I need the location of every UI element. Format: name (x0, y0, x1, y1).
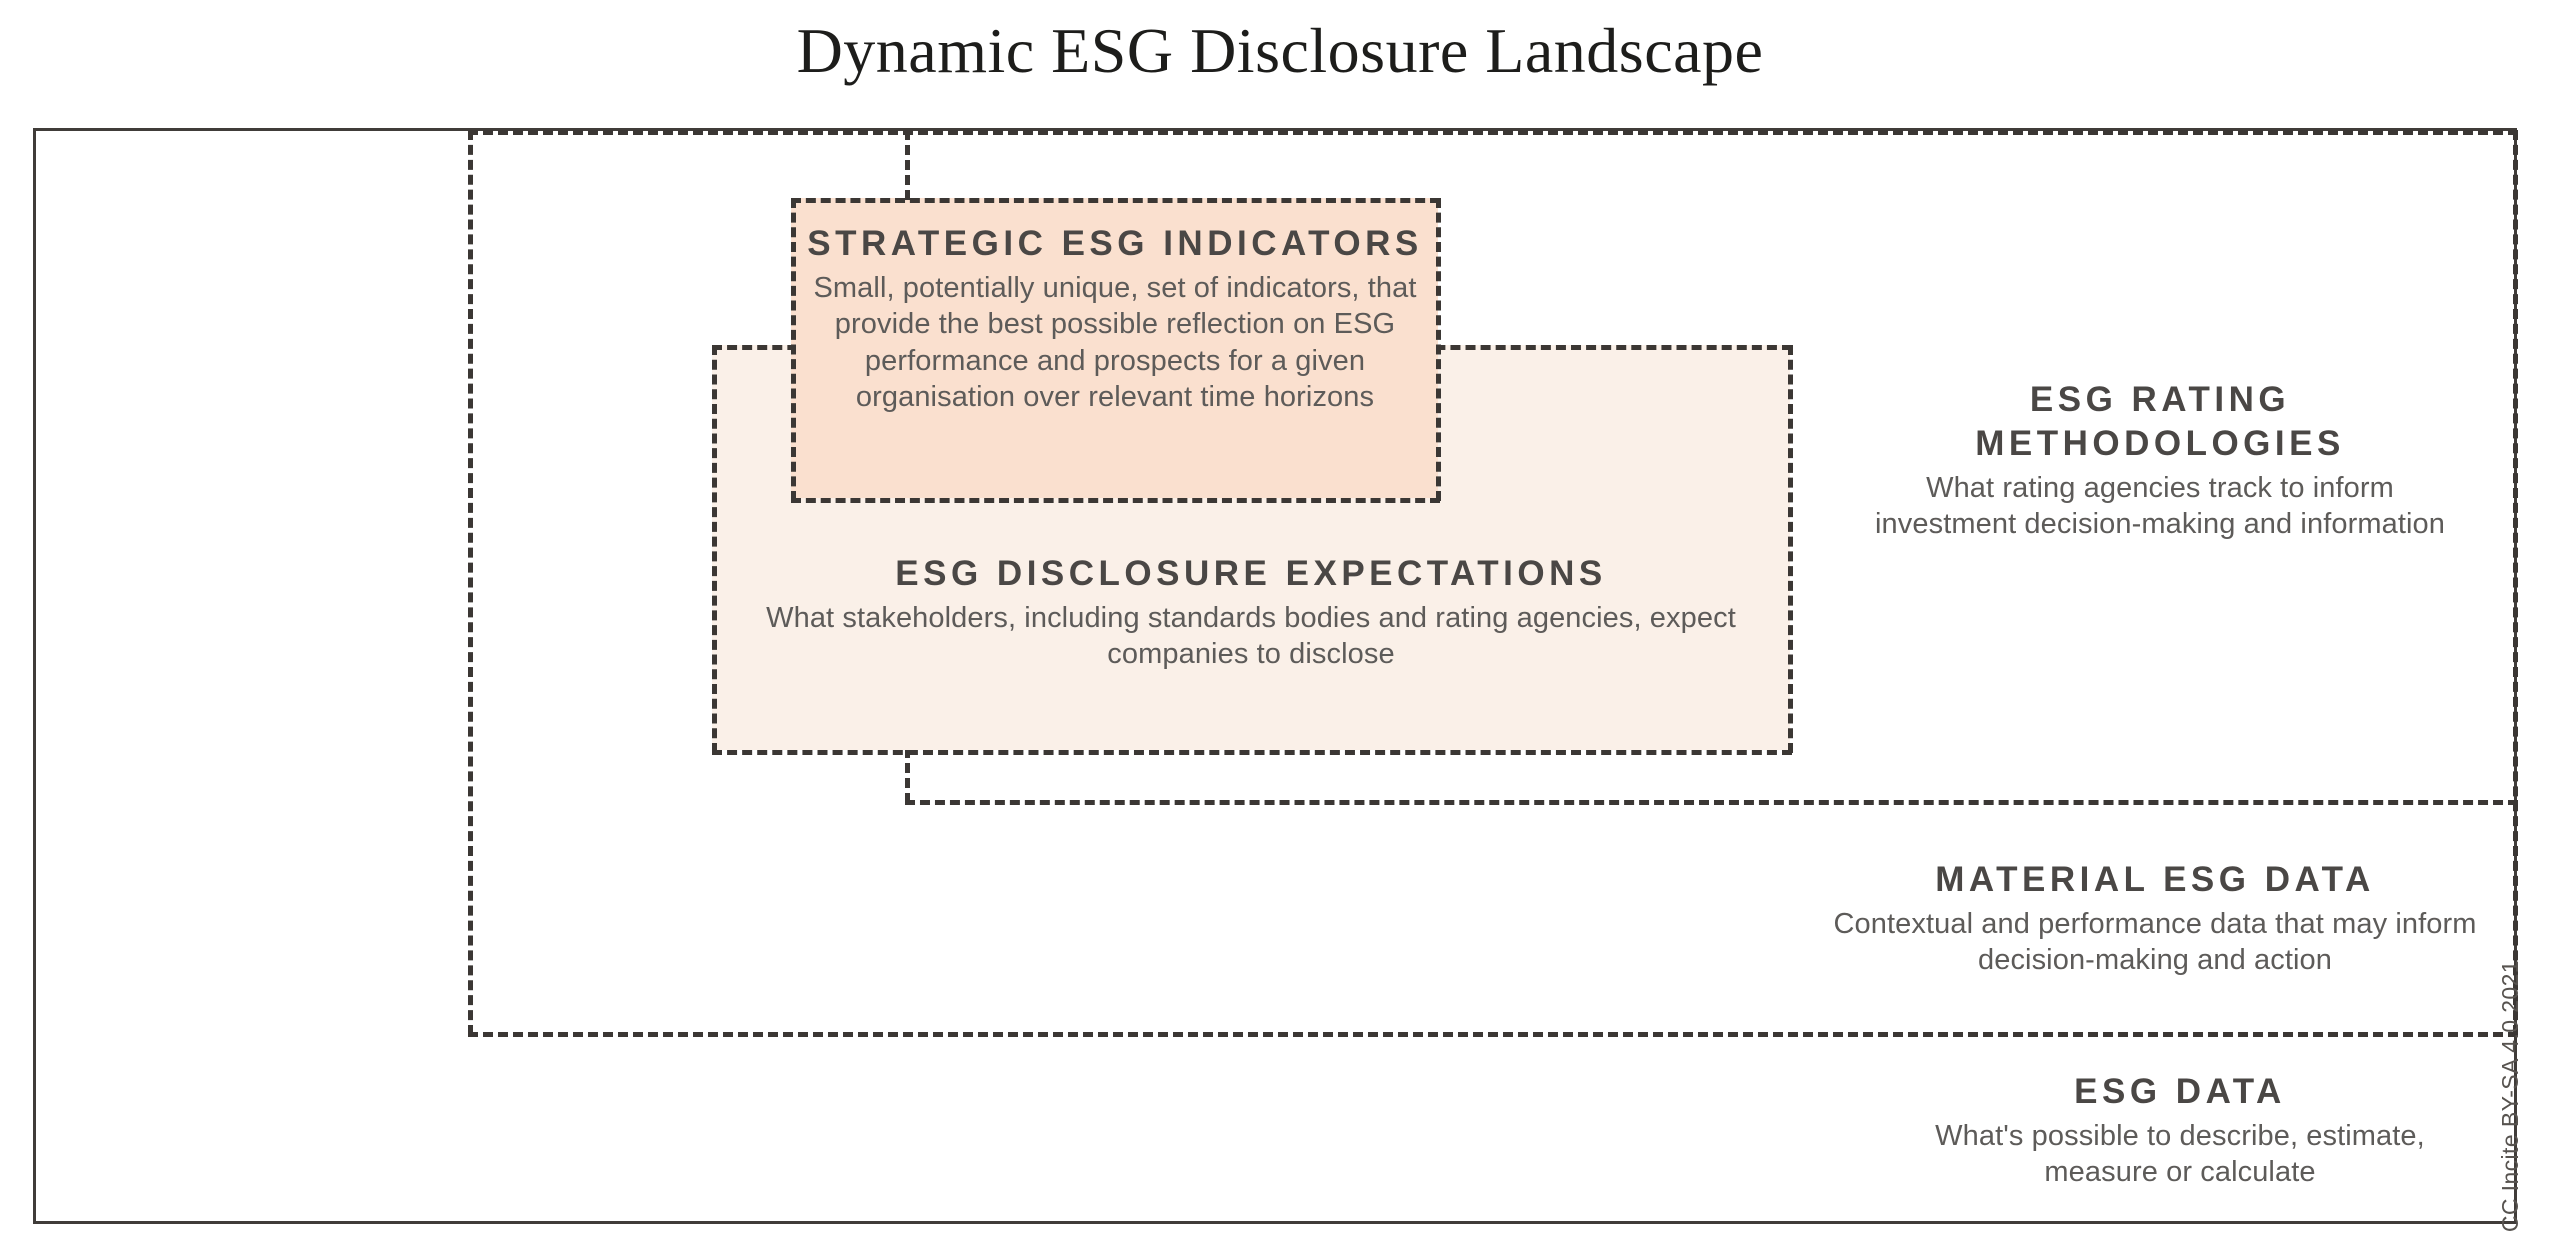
strategic-right-edge (1436, 198, 1441, 501)
diagram-canvas: Dynamic ESG Disclosure Landscape STRATEG… (0, 0, 2560, 1257)
esg-rating-methodologies-label: ESG RATING METHODOLOGIES What rating age… (1855, 378, 2465, 543)
material-layer-left-edge (468, 130, 473, 1035)
material-layer-bottom-edge (468, 1032, 2518, 1037)
strategic-esg-indicators-label: STRATEGIC ESG INDICATORS Small, potentia… (795, 222, 1435, 416)
page-title: Dynamic ESG Disclosure Landscape (0, 14, 2560, 88)
material-layer-right-edge (2513, 130, 2518, 1035)
esg-data-label: ESG DATA What's possible to describe, es… (1900, 1070, 2460, 1191)
esg-data-heading: ESG DATA (1900, 1070, 2460, 1114)
material-esg-data-label: MATERIAL ESG DATA Contextual and perform… (1830, 858, 2480, 979)
rating-layer-bottom-edge (905, 800, 2518, 805)
strategic-top-connector (905, 130, 910, 200)
esg-disclosure-expectations-label: ESG DISCLOSURE EXPECTATIONS What stakeho… (716, 552, 1786, 673)
strategic-top-edge (791, 198, 1440, 203)
expectations-bottom-edge (712, 750, 1792, 755)
rating-layer-step-connector (905, 748, 910, 803)
esg-rating-methodologies-body: What rating agencies track to inform inv… (1855, 470, 2465, 543)
strategic-bottom-edge (791, 498, 1440, 503)
material-esg-data-body: Contextual and performance data that may… (1830, 906, 2480, 979)
license-credit: CC Incite BY-SA 4.0 2021 (2497, 960, 2524, 1232)
material-esg-data-heading: MATERIAL ESG DATA (1830, 858, 2480, 902)
esg-rating-methodologies-heading: ESG RATING METHODOLOGIES (1855, 378, 2465, 466)
strategic-esg-indicators-body: Small, potentially unique, set of indica… (795, 270, 1435, 416)
esg-disclosure-expectations-heading: ESG DISCLOSURE EXPECTATIONS (716, 552, 1786, 596)
strategic-esg-indicators-heading: STRATEGIC ESG INDICATORS (795, 222, 1435, 266)
expectations-right-edge (1788, 345, 1793, 753)
esg-data-body: What's possible to describe, estimate, m… (1900, 1118, 2460, 1191)
material-layer-top-edge (468, 130, 2518, 135)
expectations-left-edge (712, 345, 717, 753)
esg-disclosure-expectations-body: What stakeholders, including standards b… (716, 600, 1786, 673)
